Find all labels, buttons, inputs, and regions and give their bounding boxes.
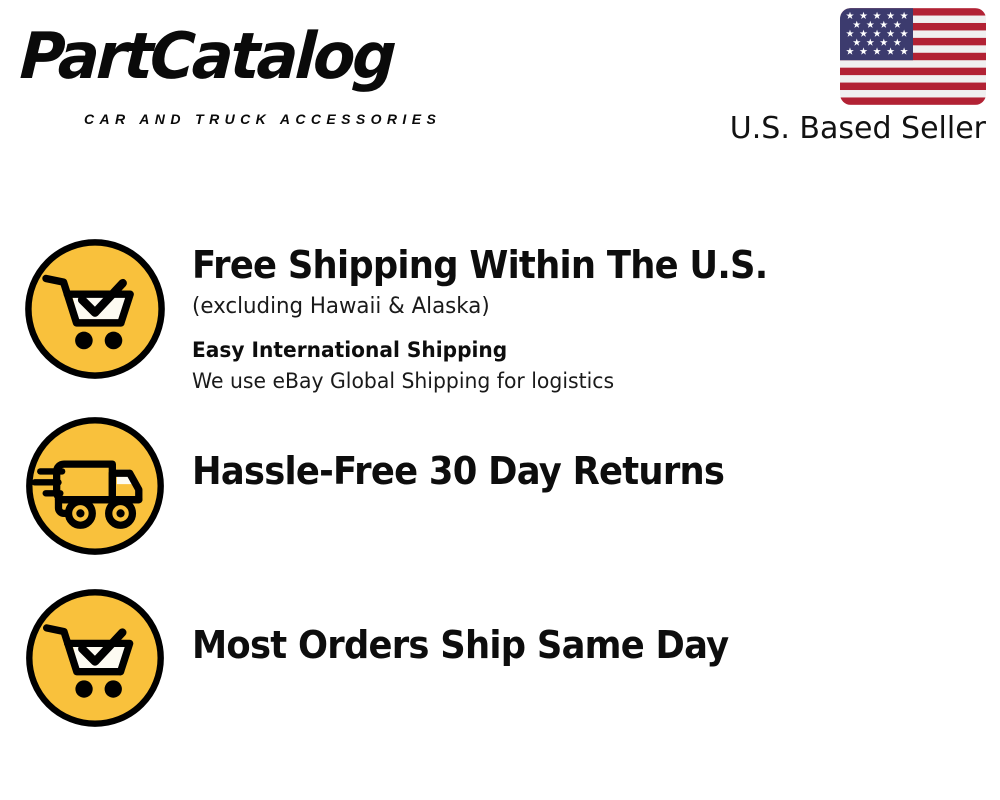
us-flag-icon [840,8,986,105]
brand-tagline: CAR AND TRUCK ACCESSORIES [84,111,441,127]
feature-subtitle: (excluding Hawaii & Alaska) [192,291,976,323]
feature-text: Hassle-Free 30 Day Returns [190,413,1000,493]
seller-badge: U.S. Based Seller [706,8,986,147]
feature-text: Most Orders Ship Same Day [190,585,1000,667]
feature-subtitle-light: We use eBay Global Shipping for logistic… [192,366,976,396]
brand-logo[interactable]: PartCatalog CAR AND TRUCK ACCESSORIES [22,22,492,117]
feature-title: Most Orders Ship Same Day [192,623,943,667]
feature-row: Hassle-Free 30 Day Returns [0,413,1000,565]
shopping-cart-check-icon [22,585,168,731]
feature-subtitle-strong: Easy International Shipping [192,335,968,365]
seller-label: U.S. Based Seller [706,111,986,147]
feature-icon-wrap [0,413,190,559]
shopping-cart-check-icon [21,235,169,383]
feature-title: Hassle-Free 30 Day Returns [192,449,943,493]
feature-row: Free Shipping Within The U.S. (excluding… [0,235,1000,405]
page-header: PartCatalog CAR AND TRUCK ACCESSORIES [0,0,1000,170]
delivery-truck-icon [22,413,168,559]
feature-text: Free Shipping Within The U.S. (excluding… [190,235,1000,396]
feature-icon-wrap [0,585,190,731]
brand-wordmark: PartCatalog [18,22,395,92]
feature-title: Free Shipping Within The U.S. [192,243,943,287]
feature-row: Most Orders Ship Same Day [0,585,1000,740]
feature-icon-wrap [0,235,190,383]
